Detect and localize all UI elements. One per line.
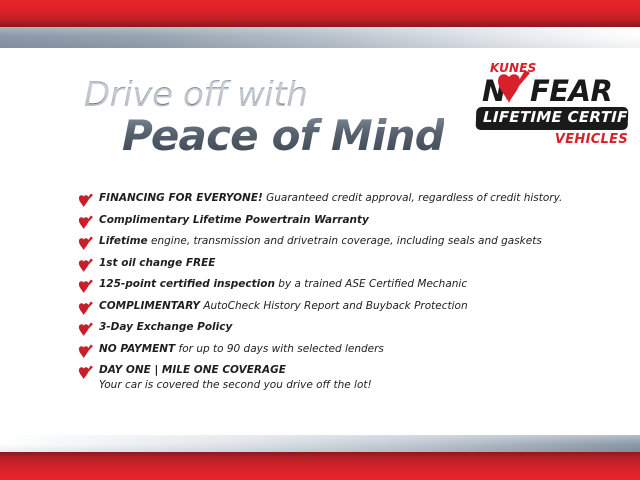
promo-poster: Drive off with Peace of Mind KUNES NOFEA… bbox=[0, 0, 640, 480]
check-heart-bullet-icon bbox=[78, 344, 93, 359]
benefit-item: 1st oil change FREE bbox=[78, 257, 600, 273]
benefit-headline: 125-point certified inspection bbox=[99, 278, 275, 290]
benefit-item: 3-Day Exchange Policy bbox=[78, 321, 600, 337]
benefit-headline: Complimentary Lifetime Powertrain Warran… bbox=[99, 214, 369, 226]
headline: Drive off with Peace of Mind bbox=[84, 78, 444, 157]
logo-lifetime-certified-bar: LIFETIME CERTIFIED bbox=[476, 107, 629, 130]
check-heart-bullet-icon bbox=[78, 215, 93, 230]
logo-vehicles-text: VEHICLES bbox=[476, 133, 628, 146]
benefit-headline: NO PAYMENT bbox=[99, 343, 175, 355]
check-heart-bullet-icon bbox=[78, 301, 93, 316]
benefits-list: FINANCING FOR EVERYONE! Guaranteed credi… bbox=[78, 192, 600, 398]
benefit-subtext: Your car is covered the second you drive… bbox=[99, 378, 600, 392]
red-check-heart-icon bbox=[496, 70, 530, 108]
benefit-detail: AutoCheck History Report and Buyback Pro… bbox=[200, 300, 468, 312]
headline-line-1: Drive off with bbox=[84, 78, 444, 112]
benefit-detail: for up to 90 days with selected lenders bbox=[175, 343, 384, 355]
benefit-item: 125-point certified inspection by a trai… bbox=[78, 278, 600, 294]
check-heart-bullet-icon bbox=[78, 279, 93, 294]
benefit-text: 1st oil change FREE bbox=[99, 257, 600, 270]
benefit-detail: engine, transmission and drivetrain cove… bbox=[148, 235, 542, 247]
benefit-text: DAY ONE | MILE ONE COVERAGEYour car is c… bbox=[99, 364, 600, 392]
benefit-item: FINANCING FOR EVERYONE! Guaranteed credi… bbox=[78, 192, 600, 208]
top-gray-band-sheen bbox=[0, 27, 640, 48]
no-fear-logo: KUNES NOFEAR LIFETIME CERTIFIED VEHICLES bbox=[476, 62, 628, 146]
headline-line-2: Peace of Mind bbox=[122, 115, 444, 157]
benefit-text: 125-point certified inspection by a trai… bbox=[99, 278, 600, 291]
benefit-text: FINANCING FOR EVERYONE! Guaranteed credi… bbox=[99, 192, 600, 205]
benefit-text: Lifetime engine, transmission and drivet… bbox=[99, 235, 600, 248]
benefit-item: Complimentary Lifetime Powertrain Warran… bbox=[78, 214, 600, 230]
benefit-headline: DAY ONE | MILE ONE COVERAGE bbox=[99, 364, 286, 376]
logo-no-fear-wordmark: NOFEAR bbox=[482, 76, 628, 106]
logo-lifetime-certified-text: LIFETIME CERTIFIED bbox=[483, 108, 640, 126]
benefit-item: Lifetime engine, transmission and drivet… bbox=[78, 235, 600, 251]
benefit-headline: FINANCING FOR EVERYONE! bbox=[99, 192, 263, 204]
benefit-text: 3-Day Exchange Policy bbox=[99, 321, 600, 334]
check-heart-bullet-icon bbox=[78, 193, 93, 208]
benefit-headline: COMPLIMENTARY bbox=[99, 300, 200, 312]
check-heart-bullet-icon bbox=[78, 258, 93, 273]
benefit-headline: 1st oil change FREE bbox=[99, 257, 215, 269]
top-red-band bbox=[0, 0, 640, 27]
benefit-detail: Guaranteed credit approval, regardless o… bbox=[263, 192, 563, 204]
benefit-detail: by a trained ASE Certified Mechanic bbox=[275, 278, 467, 290]
bottom-gray-band-sheen bbox=[0, 435, 640, 452]
logo-word-fear: FEAR bbox=[530, 74, 612, 108]
benefit-text: Complimentary Lifetime Powertrain Warran… bbox=[99, 214, 600, 227]
bottom-red-band bbox=[0, 452, 640, 480]
check-heart-bullet-icon bbox=[78, 236, 93, 251]
benefit-item: COMPLIMENTARY AutoCheck History Report a… bbox=[78, 300, 600, 316]
benefit-text: NO PAYMENT for up to 90 days with select… bbox=[99, 343, 600, 356]
benefit-headline: Lifetime bbox=[99, 235, 148, 247]
benefit-item: DAY ONE | MILE ONE COVERAGEYour car is c… bbox=[78, 364, 600, 392]
benefit-text: COMPLIMENTARY AutoCheck History Report a… bbox=[99, 300, 600, 313]
benefit-headline: 3-Day Exchange Policy bbox=[99, 321, 232, 333]
check-heart-bullet-icon bbox=[78, 322, 93, 337]
benefit-item: NO PAYMENT for up to 90 days with select… bbox=[78, 343, 600, 359]
check-heart-bullet-icon bbox=[78, 365, 93, 380]
